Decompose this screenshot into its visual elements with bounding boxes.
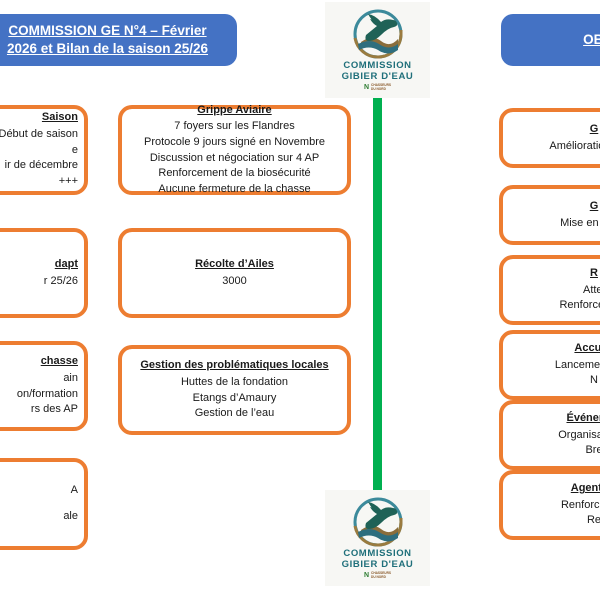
right-box-1[interactable]: G Amélioration du pr <box>499 108 600 168</box>
right-box-2-title: G <box>590 199 599 215</box>
right-box-5-line-2: Bre <box>585 443 600 459</box>
header-right-line1: OBJECTIFS <box>583 31 600 49</box>
right-box-6-line-2: Re <box>587 513 600 529</box>
left-box-1-line-1: Début de saison <box>0 127 78 143</box>
right-box-4-title: Accueil <box>574 341 600 357</box>
middle-box-problematiques-locales[interactable]: Gestion des problématiques locales Hutte… <box>118 345 351 435</box>
federation-sublogo: N CHASSEURS DU NORD <box>364 84 391 91</box>
middle-box-3-title: Gestion des problématiques locales <box>140 358 328 374</box>
right-box-6-title: Agents e <box>571 481 600 497</box>
green-connector-line <box>373 90 382 496</box>
goose-emblem-icon <box>348 496 408 548</box>
logo-wordmark: COMMISSION GIBIER D'EAU <box>342 549 414 570</box>
right-box-2[interactable]: G Mise en place <box>499 185 600 245</box>
goose-emblem-icon <box>348 8 408 60</box>
middle-box-2-line-1: 3000 <box>222 274 246 290</box>
right-box-3-line-1: Attei <box>583 283 600 299</box>
right-box-6[interactable]: Agents e Renforcemen Re <box>499 470 600 540</box>
right-box-5-line-1: Organisation d <box>558 428 600 444</box>
middle-box-1-line-2: Protocole 9 jours signé en Novembre <box>144 135 325 151</box>
federation-sublogo-text: CHASSEURS DU NORD <box>371 84 391 91</box>
left-box-3[interactable]: chasse ain on/formation rs des AP <box>0 341 88 431</box>
middle-box-1-line-5: Aucune fermeture de la chasse <box>158 182 310 198</box>
left-box-4-line-2: ale <box>63 509 78 525</box>
left-box-2[interactable]: dapt r 25/26 <box>0 228 88 318</box>
logo-wordmark: COMMISSION GIBIER D'EAU <box>342 61 414 82</box>
left-box-2-title: dapt <box>55 257 78 273</box>
right-box-2-line-1: Mise en place <box>560 216 600 232</box>
header-right-title: OBJECTIFS <box>501 14 600 66</box>
right-box-5-title: Événemen <box>566 411 600 427</box>
right-box-1-line-1: Amélioration du pr <box>549 139 600 155</box>
right-box-4[interactable]: Accueil Lancement d’un N <box>499 330 600 400</box>
commission-logo-bottom: COMMISSION GIBIER D'EAU N CHASSEURS DU N… <box>325 490 430 586</box>
right-box-3[interactable]: R Attei Renforcement <box>499 255 600 325</box>
right-box-6-line-1: Renforcemen <box>561 498 600 514</box>
left-box-1-line-3: ir de décembre <box>5 158 78 174</box>
right-box-4-line-1: Lancement d’un <box>555 358 600 374</box>
right-box-3-line-2: Renforcement <box>559 298 600 314</box>
middle-box-1-line-4: Renforcement de la biosécurité <box>158 166 310 182</box>
middle-box-recolte-ailes[interactable]: Récolte d’Ailes 3000 <box>118 228 351 318</box>
middle-box-1-line-3: Discussion et négociation sur 4 AP <box>150 151 319 167</box>
left-box-1-line-2: e <box>72 143 78 159</box>
middle-box-1-title: Grippe Aviaire <box>197 103 271 119</box>
federation-mark-icon: N <box>364 572 369 579</box>
left-box-3-line-1: ain <box>63 371 78 387</box>
middle-box-grippe-aviaire[interactable]: Grippe Aviaire 7 foyers sur les Flandres… <box>118 105 351 195</box>
logo-line2: GIBIER D'EAU <box>342 560 414 571</box>
federation-line2: DU NORD <box>371 88 391 91</box>
middle-box-1-line-1: 7 foyers sur les Flandres <box>174 119 294 135</box>
left-box-4-line-1: A <box>71 483 78 499</box>
right-box-4-line-2: N <box>590 373 598 389</box>
header-left-title: COMMISSION GE N°4 – Février 2026 et Bila… <box>0 14 237 66</box>
right-box-5[interactable]: Événemen Organisation d Bre <box>499 400 600 470</box>
right-box-1-title: G <box>590 122 599 138</box>
middle-box-2-title: Récolte d’Ailes <box>195 257 274 273</box>
logo-line2: GIBIER D'EAU <box>342 72 414 83</box>
header-left-line1: COMMISSION GE N°4 – Février <box>7 22 208 40</box>
left-box-2-line-1: r 25/26 <box>44 274 78 290</box>
right-box-3-title: R <box>590 266 598 282</box>
header-left-line2: 2026 et Bilan de la saison 25/26 <box>7 40 208 58</box>
federation-mark-icon: N <box>364 84 369 91</box>
commission-logo-top: COMMISSION GIBIER D'EAU N CHASSEURS DU N… <box>325 2 430 98</box>
left-box-3-title: chasse <box>41 354 78 370</box>
slide-canvas: COMMISSION GE N°4 – Février 2026 et Bila… <box>0 0 600 600</box>
left-box-1[interactable]: Saison Début de saison e ir de décembre … <box>0 105 88 195</box>
left-box-3-line-2: on/formation <box>17 387 78 403</box>
middle-box-3-line-1: Huttes de la fondation <box>181 375 288 391</box>
federation-sublogo: N CHASSEURS DU NORD <box>364 572 391 579</box>
left-box-4[interactable]: A ale <box>0 458 88 550</box>
federation-sublogo-text: CHASSEURS DU NORD <box>371 572 391 579</box>
middle-box-3-line-2: Etangs d’Amaury <box>193 391 277 407</box>
left-box-1-line-4: +++ <box>59 174 78 190</box>
middle-box-3-line-3: Gestion de l’eau <box>195 406 275 422</box>
federation-line2: DU NORD <box>371 576 391 579</box>
left-box-3-line-3: rs des AP <box>31 402 78 418</box>
left-box-1-title: Saison <box>42 110 78 126</box>
